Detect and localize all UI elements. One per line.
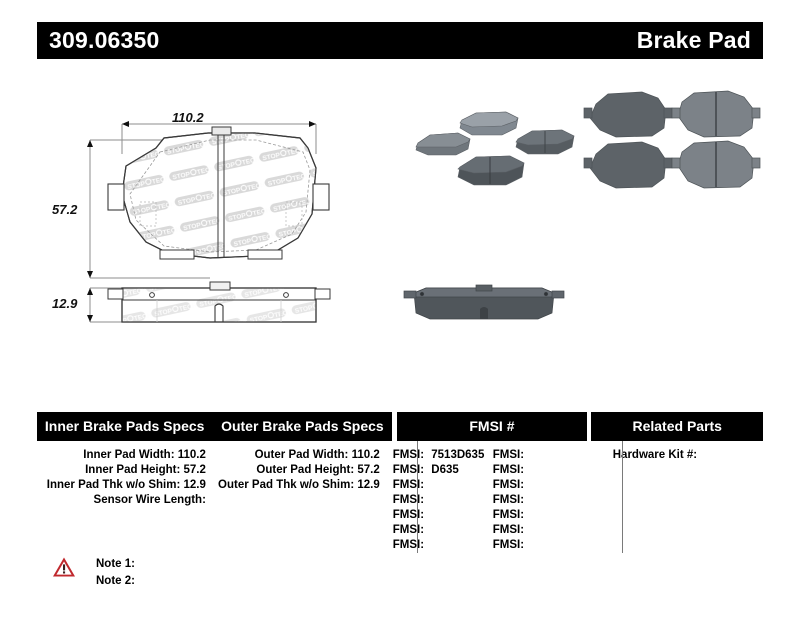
fmsi-label: FMSI: [493, 539, 524, 551]
fmsi-row: FMSI: [493, 508, 593, 523]
fmsi-row: FMSI: [493, 463, 593, 478]
table-header-row: Inner Brake Pads Specs Outer Brake Pads … [37, 412, 763, 441]
fmsi-row: FMSI: [493, 523, 593, 538]
fmsi-label: FMSI: [493, 464, 524, 476]
spec-value: 57.2 [184, 464, 206, 476]
related-part-label: Hardware Kit #: [613, 449, 697, 461]
dimension-height-label: 57.2 [52, 202, 77, 217]
spec-value: 57.2 [357, 464, 379, 476]
fmsi-row: FMSI: [493, 478, 593, 493]
note-line-2: Note 2: [96, 573, 135, 590]
fmsi-value: D635 [431, 464, 459, 476]
fmsi-label: FMSI: [393, 494, 424, 506]
fmsi-label: FMSI: [493, 479, 524, 491]
fmsi-row: FMSI: [493, 493, 593, 508]
table-body: Inner Pad Width: 110.2 Inner Pad Height:… [37, 441, 763, 553]
spec-value: 110.2 [178, 449, 206, 461]
spec-row: Outer Pad Thk w/o Shim: 12.9 [210, 478, 380, 493]
dimension-width-label: 110.2 [172, 110, 204, 125]
header-fmsi: FMSI # [397, 412, 587, 441]
warning-triangle-icon [52, 556, 76, 583]
header-related-parts: Related Parts [591, 412, 763, 441]
fmsi-row: FMSI: [393, 523, 493, 538]
spec-row: Outer Pad Height: 57.2 [210, 463, 380, 478]
fmsi-column: FMSI: 7513D635 FMSI: D635 FMSI: FMSI: FM… [388, 441, 593, 553]
header-inner-specs: Inner Brake Pads Specs [37, 412, 212, 441]
fmsi-label: FMSI: [493, 494, 524, 506]
fmsi-row: FMSI: [493, 448, 593, 463]
product-type: Brake Pad [637, 27, 751, 54]
fmsi-row: FMSI: [493, 538, 593, 553]
fmsi-row: FMSI: D635 [393, 463, 493, 478]
fmsi-row: FMSI: [393, 508, 493, 523]
spec-row: Sensor Wire Length: [37, 493, 206, 508]
fmsi-subcolumn-right: FMSI: FMSI: FMSI: FMSI: FMSI: [493, 448, 593, 553]
fmsi-subcolumn-left: FMSI: 7513D635 FMSI: D635 FMSI: FMSI: FM… [393, 448, 493, 553]
fmsi-label: FMSI: [493, 449, 524, 461]
fmsi-label: FMSI: [393, 464, 424, 476]
title-bar: 309.06350 Brake Pad [37, 22, 763, 59]
spec-row: Inner Pad Height: 57.2 [37, 463, 206, 478]
notes-section: Note 1: Note 2: [52, 556, 135, 590]
spec-label: Inner Pad Height: [85, 464, 180, 476]
spec-label: Inner Pad Width: [83, 449, 174, 461]
spec-row: Inner Pad Width: 110.2 [37, 448, 206, 463]
brake-pad-set-angled-photo [400, 95, 580, 200]
fmsi-row: FMSI: [393, 493, 493, 508]
outer-specs-column: Outer Pad Width: 110.2 Outer Pad Height:… [210, 441, 388, 553]
fmsi-label: FMSI: [493, 524, 524, 536]
part-number: 309.06350 [49, 27, 160, 54]
technical-drawing: STOP TECH [60, 110, 390, 360]
dimension-thickness-label: 12.9 [52, 296, 77, 311]
note-line-1: Note 1: [96, 556, 135, 573]
fmsi-value: 7513D635 [431, 449, 484, 461]
spec-label: Outer Pad Width: [255, 449, 349, 461]
brake-pad-set-flat-photo [582, 88, 764, 196]
related-part-row: Hardware Kit #: [613, 448, 763, 463]
related-parts-column: Hardware Kit #: [593, 441, 763, 553]
spec-row: Outer Pad Width: 110.2 [210, 448, 380, 463]
spec-row: Inner Pad Thk w/o Shim: 12.9 [37, 478, 206, 493]
fmsi-label: FMSI: [493, 509, 524, 521]
spec-value: 12.9 [184, 479, 206, 491]
specifications-table: Inner Brake Pads Specs Outer Brake Pads … [37, 412, 763, 553]
header-outer-specs: Outer Brake Pads Specs [212, 412, 392, 441]
fmsi-label: FMSI: [393, 509, 424, 521]
fmsi-label: FMSI: [393, 524, 424, 536]
spec-label: Inner Pad Thk w/o Shim: [47, 479, 181, 491]
spec-label: Outer Pad Thk w/o Shim: [218, 479, 354, 491]
spec-label: Sensor Wire Length: [94, 494, 206, 506]
fmsi-row: FMSI: 7513D635 [393, 448, 493, 463]
spec-value: 110.2 [352, 449, 380, 461]
inner-specs-column: Inner Pad Width: 110.2 Inner Pad Height:… [37, 441, 210, 553]
fmsi-row: FMSI: [393, 538, 493, 553]
fmsi-label: FMSI: [393, 449, 424, 461]
column-divider-1 [417, 441, 418, 553]
fmsi-row: FMSI: [393, 478, 493, 493]
brake-pad-side-profile-photo [398, 283, 570, 325]
spec-value: 12.9 [357, 479, 379, 491]
column-divider-2 [622, 441, 623, 553]
fmsi-label: FMSI: [393, 479, 424, 491]
note-lines: Note 1: Note 2: [96, 556, 135, 590]
spec-label: Outer Pad Height: [256, 464, 354, 476]
fmsi-label: FMSI: [393, 539, 424, 551]
